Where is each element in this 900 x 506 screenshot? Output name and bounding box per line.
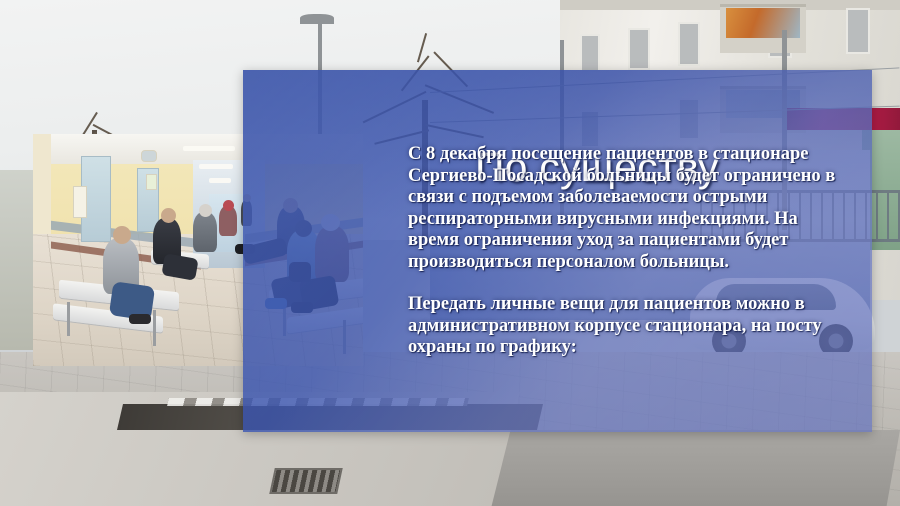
balcony-glazing bbox=[726, 8, 800, 38]
bench-leg bbox=[67, 302, 70, 336]
paragraph-2: Передать личные вещи для пациентов можно… bbox=[408, 294, 838, 359]
paragraph-1: С 8 декабря посещение пациентов в стацио… bbox=[408, 144, 838, 273]
ceiling-light bbox=[199, 164, 233, 169]
window bbox=[582, 36, 598, 70]
window bbox=[630, 30, 648, 68]
lamp-head bbox=[300, 14, 334, 24]
person-head bbox=[199, 204, 212, 217]
storm-drain-grate bbox=[269, 468, 343, 494]
seated-person bbox=[193, 212, 217, 252]
wall-notice bbox=[146, 174, 157, 190]
person-head bbox=[161, 208, 176, 223]
ceiling-light bbox=[209, 178, 231, 183]
paragraph-spacer bbox=[408, 273, 838, 294]
bench-leg bbox=[153, 310, 156, 346]
window bbox=[680, 24, 698, 64]
person-head bbox=[113, 226, 131, 244]
news-graphic-card: По существу С 8 декабря посещение пациен… bbox=[0, 0, 900, 506]
window bbox=[848, 10, 868, 52]
info-panel: По существу С 8 декабря посещение пациен… bbox=[243, 70, 872, 432]
person-head bbox=[223, 200, 234, 211]
person-shoe bbox=[129, 314, 151, 324]
wall-speaker bbox=[141, 150, 157, 162]
wall-notice bbox=[73, 186, 87, 218]
panel-body: С 8 декабря посещение пациентов в стацио… bbox=[408, 144, 838, 359]
ceiling-light bbox=[183, 146, 235, 151]
